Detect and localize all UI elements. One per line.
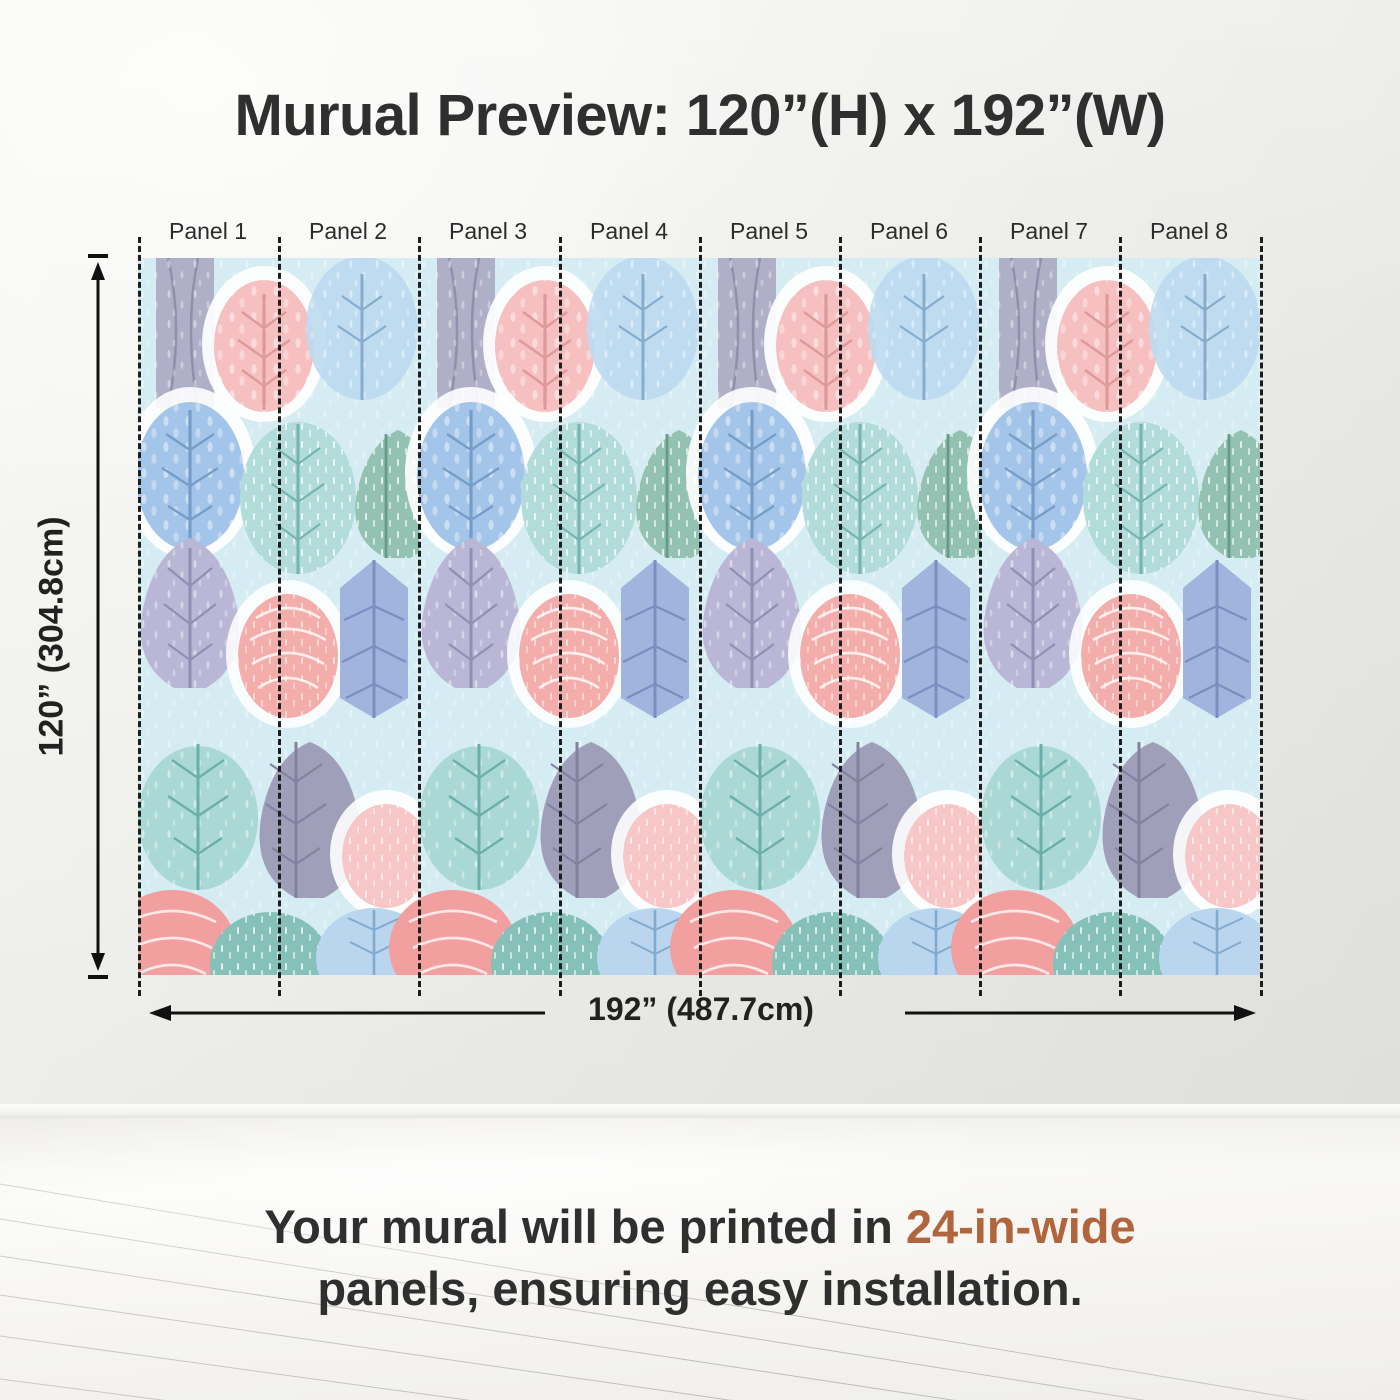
panel-label-5: Panel 5 [699,218,839,245]
panel-divider [979,237,982,996]
page-title: Murual Preview: 120”(H) x 192”(W) [0,82,1400,149]
panel-divider [699,237,702,996]
caption-highlight: 24-in-wide [906,1200,1136,1253]
panel-divider [1260,237,1263,996]
height-dimension-label: 120” (304.8cm) [33,357,72,917]
mural-preview-stage: Murual Preview: 120”(H) x 192”(W) [0,0,1400,1400]
panel-label-1: Panel 1 [138,218,278,245]
caption-line1-prefix: Your mural will be printed in [264,1200,906,1253]
panel-label-4: Panel 4 [559,218,699,245]
panel-label-2: Panel 2 [278,218,418,245]
panel-divider [418,237,421,996]
panel-divider [1119,237,1122,996]
panel-label-7: Panel 7 [979,218,1119,245]
height-dimension-arrow [86,250,110,983]
caption-line2: panels, ensuring easy installation. [317,1262,1082,1315]
panel-divider [278,237,281,996]
panel-label-8: Panel 8 [1119,218,1259,245]
panel-label-3: Panel 3 [418,218,558,245]
panel-label-6: Panel 6 [839,218,979,245]
panel-divider [839,237,842,996]
panel-divider [559,237,562,996]
caption: Your mural will be printed in 24-in-wide… [100,1196,1300,1320]
width-dimension-label: 192” (487.7cm) [538,991,864,1028]
panel-divider [138,237,141,996]
